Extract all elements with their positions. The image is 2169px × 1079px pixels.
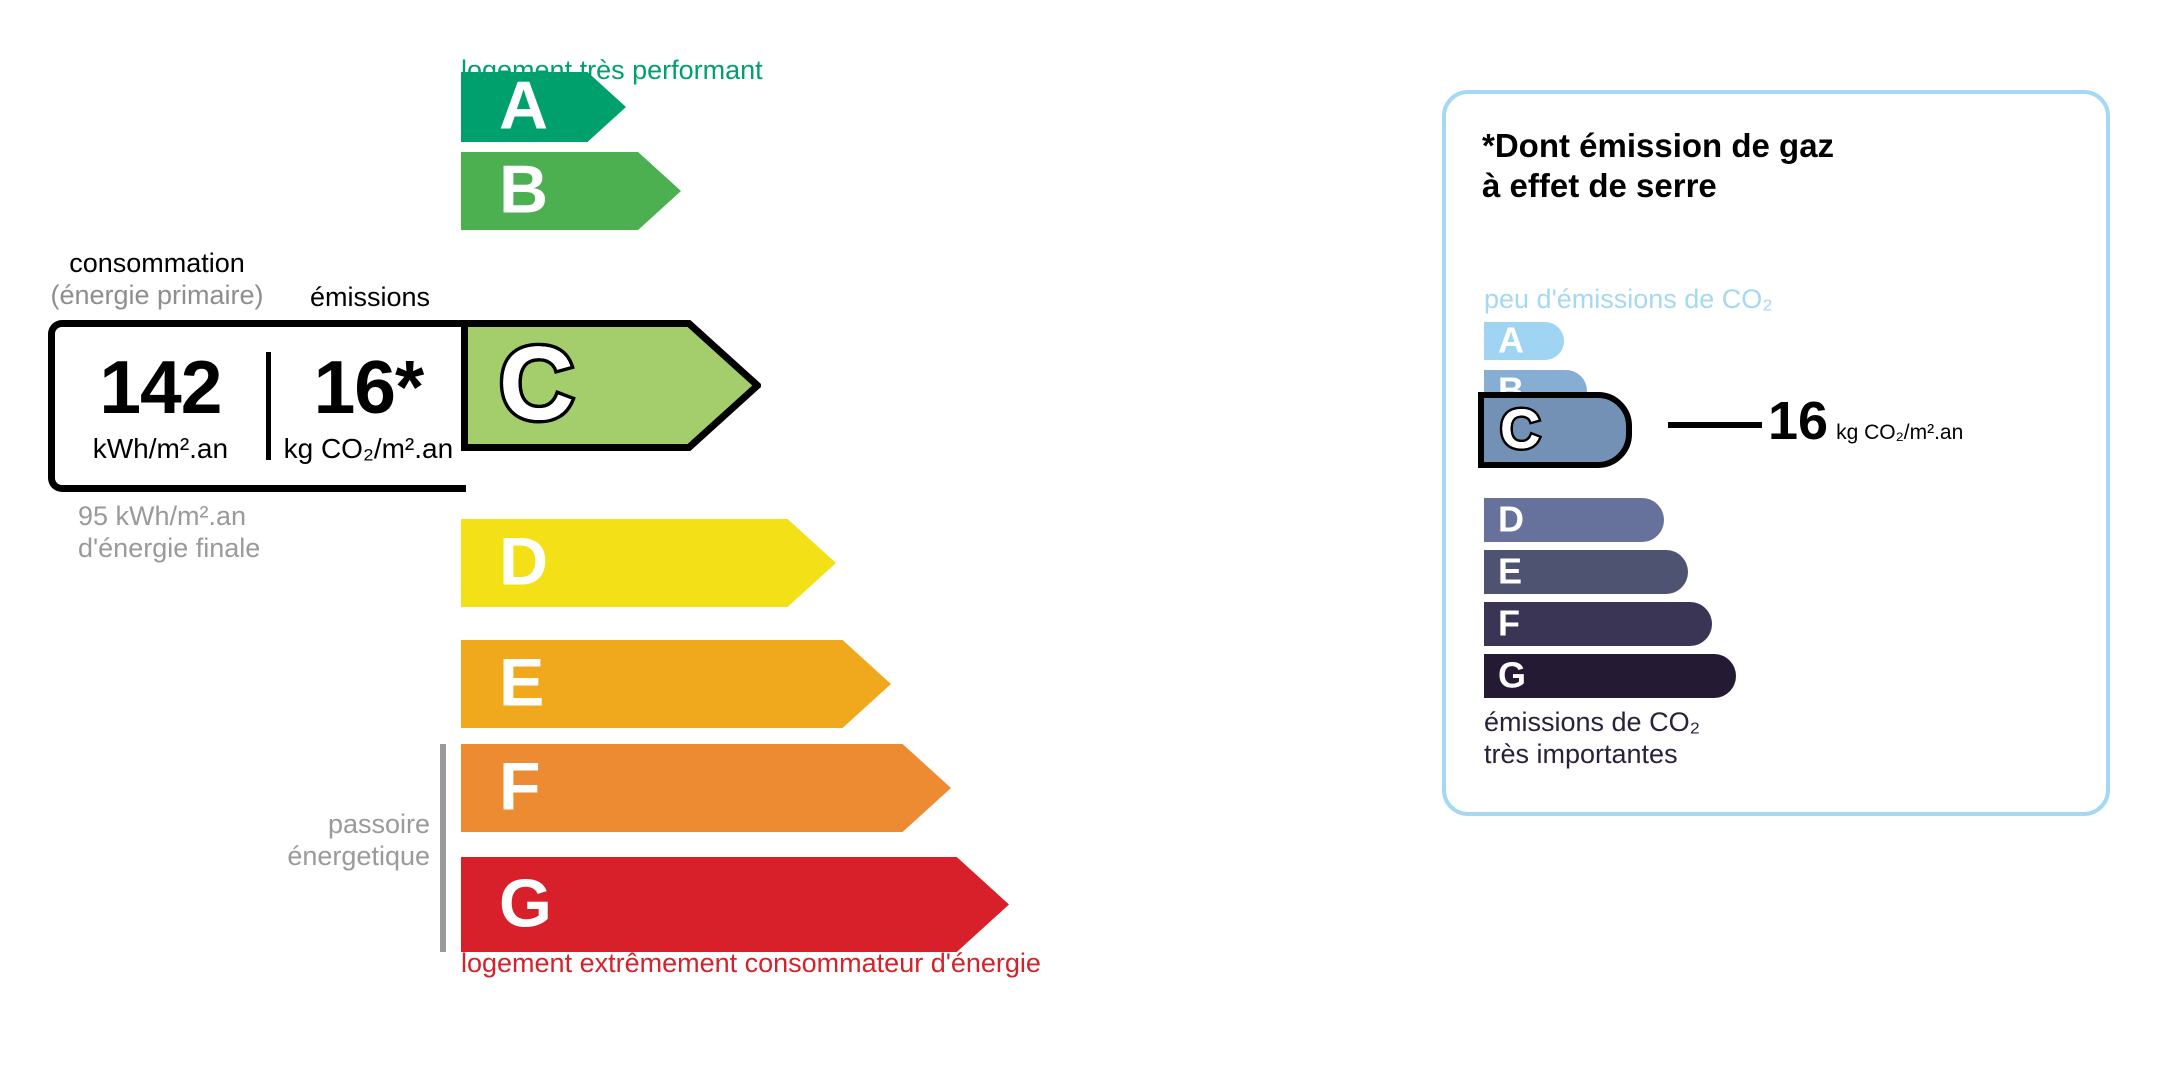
energy-letter-g: G bbox=[499, 869, 552, 937]
energy-rung-f: F bbox=[461, 744, 951, 832]
energy-rung-b: B bbox=[461, 152, 681, 230]
energy-bottom-caption: logement extrêmement consommateur d'éner… bbox=[461, 948, 1041, 979]
final-energy-line2: d'énergie finale bbox=[78, 532, 260, 564]
co2-letter-g: G bbox=[1498, 657, 1526, 693]
value-box: 142 kWh/m².an 16* kg CO₂/m².an bbox=[48, 320, 466, 492]
energy-bar-a: A bbox=[461, 72, 626, 142]
co2-rung-c: CC bbox=[1478, 392, 1632, 468]
energy-rung-d: D bbox=[461, 519, 836, 607]
co2-letter-e: E bbox=[1498, 553, 1522, 589]
primary-energy-cell: 142 kWh/m².an bbox=[55, 350, 266, 463]
energy-rung-e: E bbox=[461, 640, 891, 728]
co2-panel: *Dont émission de gaz à effet de serre p… bbox=[1442, 90, 2110, 816]
energy-bar-f: F bbox=[461, 744, 951, 832]
final-energy-line1: 95 kWh/m².an bbox=[78, 500, 260, 532]
energy-bar-g: G bbox=[461, 857, 1009, 952]
co2-value-unit: kg CO₂/m².an bbox=[1836, 421, 1963, 444]
co2-letter-f: F bbox=[1498, 605, 1520, 641]
co2-title-line2: à effet de serre bbox=[1482, 166, 1834, 206]
co2-title-line1: *Dont émission de gaz bbox=[1482, 126, 1834, 166]
co2-value-number: 16 bbox=[1768, 391, 1828, 451]
energy-bar-b: B bbox=[461, 152, 681, 230]
energy-bar-shape-b bbox=[461, 152, 681, 230]
energy-letter-fill-c: C bbox=[499, 331, 574, 435]
passoire-line1: passoire bbox=[240, 808, 430, 840]
passoire-label: passoire énergetique bbox=[240, 808, 430, 873]
final-energy-note: 95 kWh/m².an d'énergie finale bbox=[78, 500, 260, 565]
emissions-value: 16* bbox=[271, 350, 466, 425]
co2-letter-fill-c: C bbox=[1500, 401, 1540, 457]
energy-bar-d: D bbox=[461, 519, 836, 607]
energy-bar-e: E bbox=[461, 640, 891, 728]
energy-letter-b: B bbox=[499, 156, 548, 224]
co2-rung-f: F bbox=[1484, 602, 1712, 646]
emissions-unit: kg CO₂/m².an bbox=[271, 435, 466, 463]
co2-letter-a: A bbox=[1498, 322, 1524, 358]
consumption-header: consommation (énergie primaire) bbox=[48, 248, 266, 312]
co2-leader-line bbox=[1668, 422, 1762, 428]
energy-rung-a: A bbox=[461, 72, 626, 142]
co2-bottom-line1: émissions de CO₂ bbox=[1484, 706, 1700, 738]
co2-rung-g: G bbox=[1484, 654, 1736, 698]
primary-energy-value: 142 bbox=[55, 350, 266, 425]
energy-letter-d: D bbox=[499, 528, 548, 596]
passoire-bracket bbox=[440, 744, 446, 952]
consumption-header-line1: consommation bbox=[48, 248, 266, 280]
passoire-line2: énergetique bbox=[240, 840, 430, 872]
co2-title: *Dont émission de gaz à effet de serre bbox=[1482, 126, 1834, 207]
co2-rung-a: A bbox=[1484, 322, 1564, 360]
primary-energy-unit: kWh/m².an bbox=[55, 435, 266, 463]
energy-performance-chart: logement très performant consommation (é… bbox=[0, 0, 1400, 1079]
consumption-header-line2: (énergie primaire) bbox=[48, 280, 266, 312]
co2-value-label: 16kg CO₂/m².an bbox=[1768, 390, 1963, 452]
co2-rung-e: E bbox=[1484, 550, 1688, 594]
co2-bottom-line2: très importantes bbox=[1484, 738, 1700, 770]
energy-letter-e: E bbox=[499, 649, 544, 717]
emissions-cell: 16* kg CO₂/m².an bbox=[271, 350, 466, 463]
energy-rung-g: G bbox=[461, 857, 1009, 952]
co2-top-caption: peu d'émissions de CO₂ bbox=[1484, 284, 1773, 315]
energy-letter-a: A bbox=[499, 72, 548, 140]
energy-letter-f: F bbox=[499, 753, 541, 821]
emissions-header: émissions bbox=[280, 282, 460, 314]
co2-rung-d: D bbox=[1484, 498, 1664, 542]
co2-letter-d: D bbox=[1498, 501, 1524, 537]
co2-bottom-caption: émissions de CO₂ très importantes bbox=[1484, 706, 1700, 771]
energy-rung-c: CC bbox=[461, 320, 761, 451]
energy-bar-c: CC bbox=[461, 320, 761, 451]
